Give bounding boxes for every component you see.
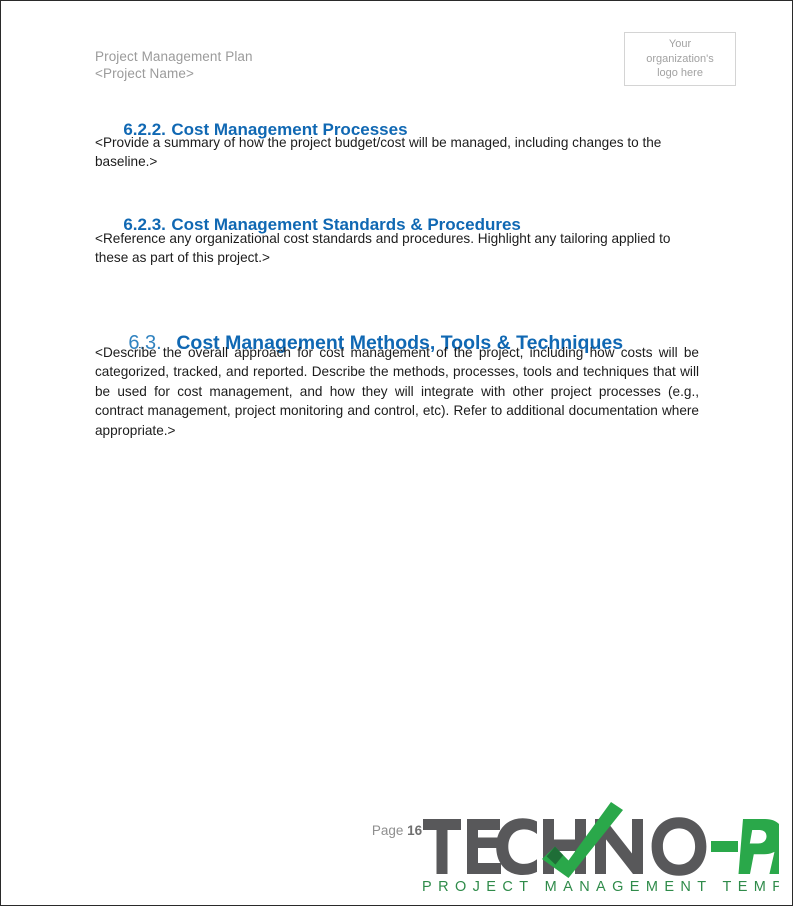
header-line-project-name: <Project Name>	[95, 66, 495, 83]
logo-text-pm	[739, 819, 780, 874]
header-line-title: Project Management Plan	[95, 49, 495, 66]
paragraph-6-2-3: <Reference any organizational cost stand…	[95, 229, 699, 268]
document-page: Project Management Plan <Project Name> Y…	[0, 0, 793, 906]
techno-pm-logo-graphic: PROJECT MANAGEMENT TEMPLATES	[419, 799, 779, 899]
techno-pm-logo: PROJECT MANAGEMENT TEMPLATES	[419, 799, 779, 899]
logo-dash	[711, 841, 738, 852]
page-content: Project Management Plan <Project Name> Y…	[95, 1, 699, 905]
logo-placeholder-line-3: logo here	[657, 66, 703, 81]
page-number-label: Page 16	[372, 823, 422, 838]
paragraph-6-2-2: <Provide a summary of how the project bu…	[95, 133, 699, 172]
organization-logo-placeholder: Your organization's logo here	[624, 32, 736, 86]
logo-placeholder-line-2: organization's	[646, 52, 714, 67]
page-label-text: Page	[372, 823, 407, 838]
document-header: Project Management Plan <Project Name>	[95, 49, 495, 82]
logo-placeholder-line-1: Your	[669, 37, 691, 52]
paragraph-6-3: <Describe the overall approach for cost …	[95, 343, 699, 440]
logo-tagline: PROJECT MANAGEMENT TEMPLATES	[422, 879, 779, 895]
